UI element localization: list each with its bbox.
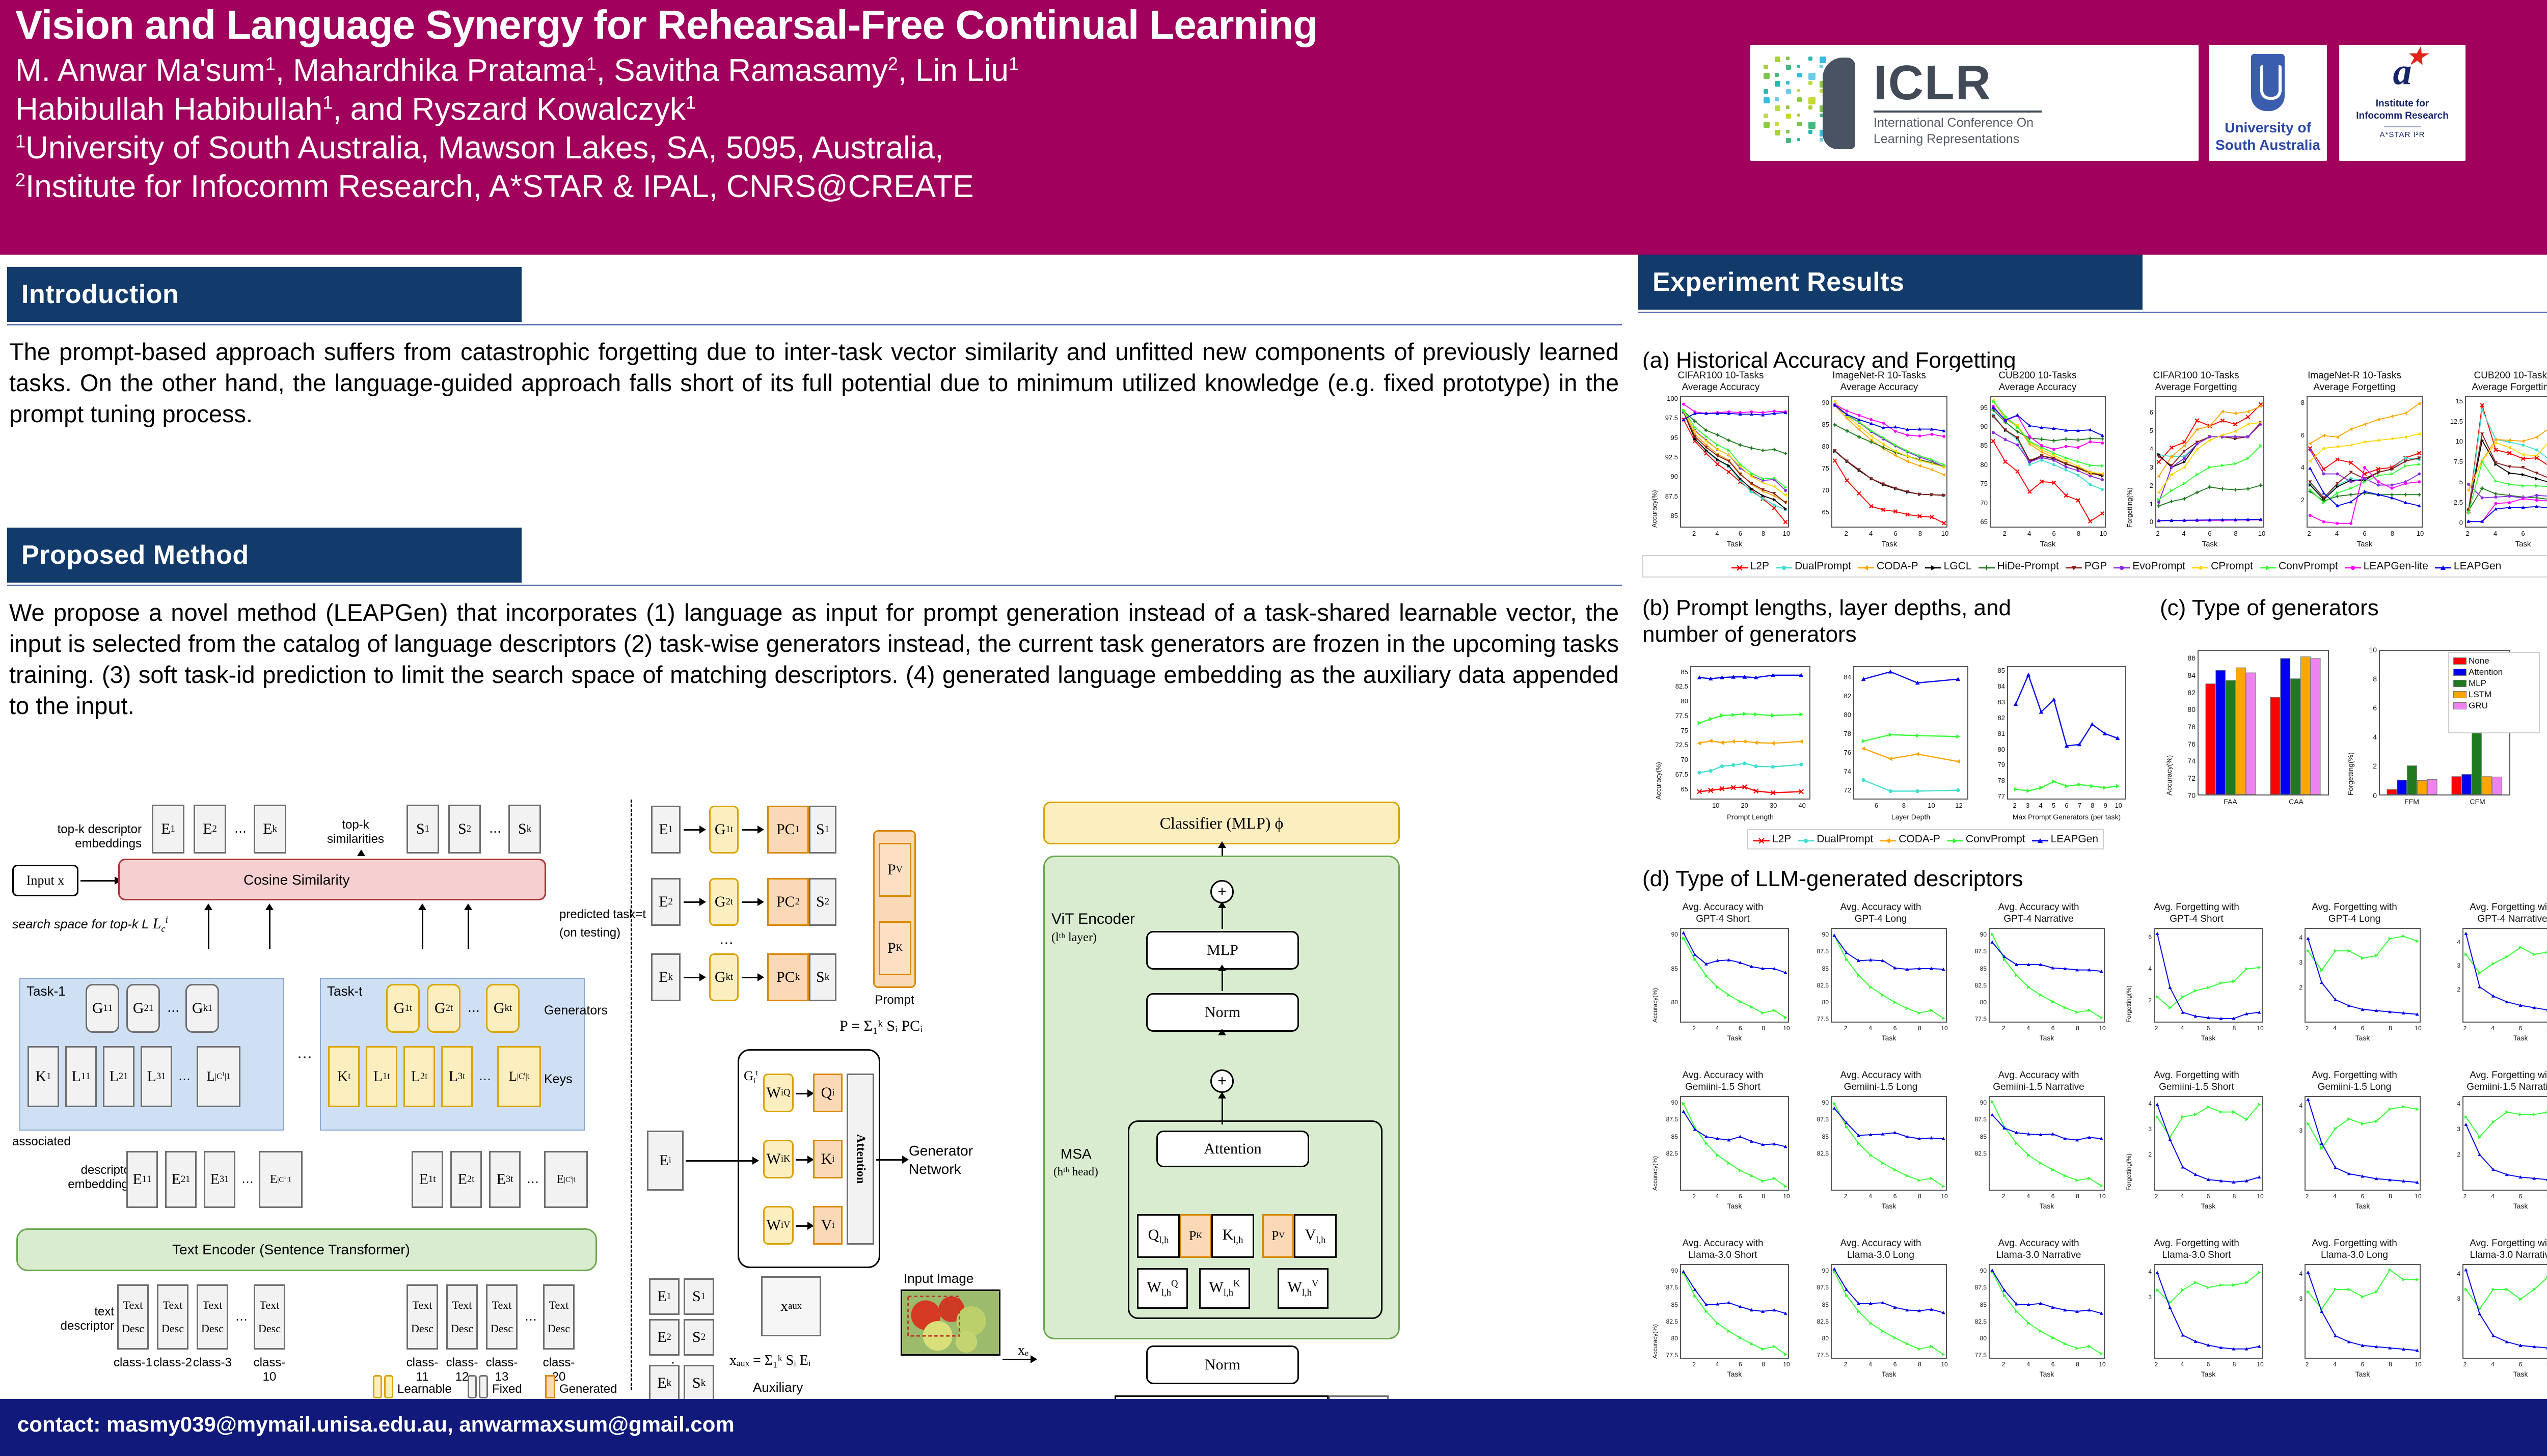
x-axis-label: Task (1973, 1034, 2120, 1042)
WVlh-box: Wl,hV (1278, 1268, 1329, 1309)
x-tick-label: 8 (2068, 1361, 2088, 1368)
y-tick-label: 84 (1825, 673, 1851, 681)
plot-axes (1853, 666, 1968, 800)
legend-fixed-swatch-b (479, 1375, 488, 1398)
plot-title: Avg. Forgetting with Gemiini-1.5 Short (2120, 1069, 2273, 1093)
y-tick-label: 75 (1662, 727, 1688, 734)
gen-Gkt: Gkt (709, 953, 739, 1001)
x-axis-label: Task (2140, 540, 2280, 548)
legend-label: LEAPGen-lite (2364, 560, 2428, 572)
x-axis-label: Task (1665, 540, 1804, 548)
y-axis-label: Forgetting(%) (2126, 487, 2133, 528)
key-box-L11: L11 (65, 1046, 97, 1107)
x-tick-label: 6 (2352, 1025, 2373, 1032)
x-axis-label: Task (2447, 1202, 2547, 1210)
affiliation-1: 1University of South Australia, Mawson L… (15, 131, 943, 165)
y-tick-label: 76 (1825, 749, 1851, 756)
plot-axes (1831, 1264, 1947, 1359)
vit-layer-label: (lᵗʰ layer) (1051, 931, 1097, 945)
legend-marker (1946, 836, 1964, 843)
authors-line-2: Habibullah Habibullah1, and Ryszard Kowa… (15, 93, 696, 126)
x-tick-label: 8 (1753, 530, 1774, 537)
gen-input-E2: E2 (651, 878, 681, 926)
y-tick-label: 3 (2276, 1127, 2302, 1134)
y-tick-label: 3 (2434, 1125, 2460, 1133)
x-axis-label: Task (2138, 1202, 2278, 1210)
plot-d1: Avg. Accuracy with GPT-4 Short8085902468… (1646, 901, 1799, 1064)
plot-axes (2154, 1264, 2263, 1359)
x-tick-label: 4 (2483, 1193, 2503, 1200)
x-tick-label: 8 (2538, 1025, 2547, 1032)
x-tick-label: 20 (1735, 802, 1755, 809)
x-tick-label: 10 (1776, 1193, 1797, 1200)
plot-title: ImageNet-R 10-Tasks Average Forgetting (2278, 370, 2431, 393)
x-tick-label: 8 (1753, 1193, 1774, 1200)
x-tick-label: 10 (2250, 1361, 2270, 1368)
legend-marker (1775, 563, 1793, 570)
y-tick-label: 78 (1825, 730, 1851, 737)
gen-net-input-Ei: Ei (647, 1131, 684, 1191)
input-image-label: Input Image (904, 1271, 973, 1286)
plot-d15: Avg. Accuracy with Llama-3.0 Narrative77… (1962, 1238, 2115, 1400)
x-tick-label: 6 (1730, 1025, 1750, 1032)
x-tick-label: 8 (1753, 1361, 1774, 1368)
x-tick-label: 6 (2198, 1025, 2218, 1032)
y-axis-label: Forgetting(%) (2346, 752, 2354, 795)
plot-title: Avg. Accuracy with Gemiini-1.5 Short (1646, 1069, 1799, 1093)
y-tick-label: 80 (1961, 461, 1988, 469)
y-tick-label: 87.5 (1802, 948, 1829, 955)
x-tick-label: 4 (2019, 530, 2040, 537)
x-axis-label: Task (1974, 540, 2121, 548)
norm-to-mlp-arrow (1222, 971, 1223, 991)
x-tick-label: 10 (1935, 530, 1955, 537)
y-tick-label: 80 (1960, 1335, 1987, 1342)
plot-axes (2462, 1264, 2547, 1359)
legend-generated-swatch (545, 1375, 555, 1398)
aux-S1: S1 (684, 1278, 714, 1315)
y-tick-label: 82.5 (1802, 1150, 1829, 1157)
text-desc-box-5: Text Desc (407, 1284, 438, 1350)
y-tick-label: 4 (2434, 1270, 2460, 1277)
y-tick-label: 81 (1979, 730, 2005, 737)
prompt-comp-PC1: PC1 (767, 806, 809, 854)
y-tick-label: 100 (1651, 395, 1678, 402)
plot-title: Avg. Forgetting with GPT-4 Narrative (2436, 901, 2547, 925)
classifier-mlp-box: Classifier (MLP) ϕ (1043, 802, 1400, 844)
plot-title: CUB200 10-Tasks Average Accuracy (1961, 370, 2114, 393)
y-tick-label: 82.5 (1960, 1150, 1987, 1157)
x-tick-label: 2 (1835, 1193, 1856, 1200)
on-testing-label: (on testing) (559, 926, 620, 940)
x-axis-label: Task (1973, 1370, 2120, 1378)
y-tick-label: 90 (1960, 1267, 1987, 1274)
y-tick-label: 80 (1803, 443, 1829, 450)
desc-emb-E21: E21 (165, 1151, 197, 1208)
x-tick-label: 4 (2325, 1025, 2345, 1032)
legend-item: EvoPrompt (2113, 560, 2185, 572)
keys-label: Keys (544, 1072, 573, 1087)
plot-a2: ImageNet-R 10-Tasks Average Accuracy6570… (1803, 370, 1956, 553)
legend-main: L2P DualPrompt CODA-P LGCL HiDe-Prompt (1642, 555, 2547, 578)
generator-network-label: Generator Network (909, 1142, 973, 1179)
generator-attention-box: Attention (847, 1074, 874, 1245)
x-axis-label: Task (1665, 1202, 1804, 1210)
legend-item: PGP (2065, 560, 2107, 572)
aux-equation: xₐᵤₓ = Σ₁ᵏ Sᵢ Eᵢ (729, 1353, 810, 1369)
y-tick-label: 2 (2434, 986, 2460, 993)
y-tick-label: 90 (1802, 1267, 1829, 1274)
introduction-heading: Introduction (7, 267, 522, 322)
y-tick-label: 72.5 (1662, 741, 1688, 749)
y-tick-label: 76 (2169, 740, 2196, 748)
msa-label: MSA (1061, 1146, 1092, 1162)
key-box-LCt: L|Ct|t (497, 1046, 541, 1107)
text-encoder-label: Text Encoder (Sentence Transformer) (172, 1242, 410, 1258)
generators-label: Generators (544, 1003, 608, 1018)
y-tick-label: 90 (1651, 1267, 1678, 1274)
mlp-box: MLP (1146, 931, 1299, 970)
y-tick-label: 90 (1802, 1099, 1829, 1106)
legend-item: LEAPGen (2434, 560, 2501, 572)
y-tick-label: 5 (2127, 427, 2153, 434)
x-axis-label: Task (1816, 1370, 1962, 1378)
class-label-8: class-20 (537, 1356, 581, 1384)
legend-marker (1797, 836, 1814, 843)
text-desc-box-1: Text Desc (117, 1284, 149, 1350)
plot-d16: Avg. Forgetting with Llama-3.0 Short3424… (2120, 1238, 2273, 1400)
iclr-mosaic-icon (1762, 54, 1868, 151)
x-tick-label: 8 (2380, 1193, 2401, 1200)
y-tick-label: 79 (1979, 761, 2005, 768)
plot-d3: Avg. Accuracy with GPT-4 Narrative77.580… (1962, 901, 2115, 1064)
legend-item: DualPrompt (1775, 560, 1851, 572)
x-axis-label: Layer Depth (1838, 813, 1984, 821)
sim-S1: S1 (809, 806, 836, 854)
plot-axes (2305, 928, 2421, 1023)
y-tick-label: 4 (2276, 1270, 2302, 1277)
y-tick-label: 6 (2125, 933, 2152, 941)
y-tick-label: 86 (2169, 654, 2196, 662)
key-box-K1: K1 (28, 1046, 59, 1107)
y-tick-label: 4 (2278, 463, 2305, 471)
x-tick-label: 2 (1684, 1361, 1704, 1368)
x-tick-label: 6 (1730, 530, 1750, 537)
legend-swatch (2453, 669, 2467, 676)
x-tick-label: 6 (2352, 1193, 2373, 1200)
x-tick-label: 6 (1885, 1025, 1905, 1032)
y-tick-label: 12.5 (2436, 418, 2463, 425)
y-tick-label: 4 (2125, 1100, 2152, 1107)
y-tick-label: 90 (1961, 423, 1988, 430)
legend-marker (2259, 563, 2277, 570)
x-tick-label: 6 (1866, 802, 1887, 809)
attention-to-gennet-arrow (876, 1159, 903, 1161)
legend-item: HiDe-Prompt (1978, 560, 2059, 572)
x-axis-label: Task (2447, 1370, 2547, 1378)
x-tick-label: 6 (2043, 1193, 2063, 1200)
key-box-L3t: L3t (441, 1046, 473, 1107)
plot-axes (2198, 650, 2329, 795)
y-tick-label: 74 (1825, 767, 1851, 775)
y-tick-label: 2 (2276, 984, 2302, 991)
text-desc-ellipsis-t: ⋯ (525, 1313, 537, 1327)
x-tick-label: 4 (1707, 530, 1727, 537)
x-tick-label: 8 (2380, 1361, 2401, 1368)
x-axis-label: Task (2447, 1034, 2547, 1042)
WQlh-box: Wl,hQ (1137, 1268, 1188, 1309)
prompt-stack: PV PK (873, 830, 916, 988)
y-tick-label: 80 (1960, 999, 1987, 1006)
plot-title: Avg. Forgetting with GPT-4 Short (2120, 901, 2273, 925)
legend-swatch (2453, 657, 2467, 665)
y-tick-label: 65 (1662, 785, 1688, 793)
y-tick-label: 8 (2350, 675, 2377, 683)
x-tick-label: 6 (2510, 1361, 2531, 1368)
y-tick-label: 4 (2125, 1268, 2152, 1275)
x-tick-label: 6 (1885, 1361, 1905, 1368)
x-tick-label: 10 (1934, 1361, 1955, 1368)
legend-label: CODA-P (1899, 833, 1940, 845)
sim-ellipsis: ⋯ (489, 825, 501, 839)
x-tick-label: 6 (2510, 1025, 2531, 1032)
y-tick-label: 85 (1961, 442, 1988, 449)
prompt-equation: P = Σ₁ᵏ Sᵢ PCᵢ (839, 1018, 923, 1035)
x-tick-label: 4 (1860, 1025, 1881, 1032)
plot-d9: Avg. Accuracy with Gemiini-1.5 Narrative… (1962, 1069, 2115, 1232)
legend-item: Attention (2453, 667, 2503, 677)
x-tick-label: 2 (1993, 1025, 2014, 1032)
plot-title: Avg. Forgetting with GPT-4 Long (2278, 901, 2431, 925)
authors-line-1: M. Anwar Ma'sum1, Mahardhika Pratama1, S… (15, 54, 1019, 88)
search-space-label: search space for top-k L Lci (12, 915, 168, 935)
prompt-PK: PK (879, 921, 911, 975)
y-axis-label: Accuracy(%) (1655, 762, 1662, 800)
plot-axes (1990, 396, 2106, 528)
x-tick-label: 8 (2068, 1193, 2088, 1200)
y-axis-label: Accuracy(%) (1651, 988, 1659, 1023)
WK-to-Ki-arrow (796, 1159, 808, 1161)
plot-title: Avg. Accuracy with Llama-3.0 Long (1804, 1238, 1957, 1261)
legend-label: CODA-P (1877, 560, 1918, 572)
y-tick-label: 70 (1961, 499, 1988, 507)
text-desc-ellipsis-1: ⋯ (235, 1313, 248, 1327)
x-aux-box: xaux (761, 1276, 821, 1336)
y-tick-label: 6 (2127, 408, 2153, 416)
text-desc-box-2: Text Desc (157, 1284, 188, 1350)
y-tick-label: 82 (1825, 692, 1851, 700)
iclr-subtitle-2: Learning Representations (1874, 131, 2042, 147)
y-tick-label: 97.5 (1651, 414, 1678, 422)
y-tick-label: 80 (1662, 697, 1688, 705)
y-tick-label: 84 (1979, 682, 2005, 690)
desc-emb-EC1: E|C1|1 (259, 1151, 303, 1208)
prompt-label: Prompt (871, 993, 918, 1007)
desc-emb-ellipsis-1: ⋯ (241, 1175, 254, 1190)
legend-item: GRU (2453, 701, 2488, 711)
x-tick-label: 4 (2172, 1025, 2192, 1032)
plot-title: CIFAR100 10-Tasks Average Accuracy (1644, 370, 1797, 393)
descriptor-embeddings-label: descriptor embeddings (12, 1163, 134, 1191)
y-tick-label: 83 (1979, 698, 2005, 706)
legend-item: DualPrompt (1797, 833, 1873, 845)
gen-box-Gk1: Gk1 (185, 984, 219, 1033)
legend-item: LEAPGen-lite (2344, 560, 2428, 572)
x-tick-label: 4 (2485, 530, 2506, 537)
x-axis-label: Task (1816, 1034, 1962, 1042)
x-tick-label: 10 (1776, 1025, 1797, 1032)
plot-a1: CIFAR100 10-Tasks Average Accuracy8587.5… (1644, 370, 1797, 553)
y-tick-label: 85 (1960, 1133, 1987, 1140)
x-tick-label: FAA (2198, 798, 2263, 806)
x-tick-label: 10 (1921, 802, 1942, 809)
x-axis-label: Task (1816, 1202, 1962, 1210)
y-tick-label: 95 (1961, 404, 1988, 411)
x-tick-label: 10 (1776, 1361, 1797, 1368)
plot-d7: Avg. Accuracy with Gemiini-1.5 Short82.5… (1646, 1069, 1799, 1232)
y-axis-label: Forgetting(%) (2125, 985, 2132, 1023)
sim-box-S2: S2 (448, 805, 481, 854)
legend-marker (1753, 836, 1770, 843)
legend-learnable-swatch-b (384, 1375, 393, 1398)
plot-d6: Avg. Forgetting with GPT-4 Narrative2342… (2436, 901, 2547, 1064)
norm-box-1: Norm (1146, 993, 1299, 1032)
poster-header: Vision and Language Synergy for Rehearsa… (0, 0, 2547, 255)
norm-box-2: Norm (1146, 1345, 1299, 1384)
G2t-to-PC2-arrow (742, 901, 758, 903)
y-tick-label: 85 (1651, 1301, 1678, 1308)
y-tick-label: 87.5 (1651, 1116, 1678, 1123)
text-desc-box-3: Text Desc (197, 1284, 228, 1350)
x-tick-label: 10 (2250, 1025, 2270, 1032)
legend-marker (2191, 563, 2209, 570)
x-tick-label: 6 (2043, 1025, 2063, 1032)
x-tick-label: 2 (2146, 1361, 2166, 1368)
emb-box-E1: E1 (152, 805, 184, 854)
y-tick-label: 80 (1802, 999, 1829, 1006)
y-tick-label: 82.5 (1802, 1318, 1829, 1325)
legend-item: ConvPrompt (2259, 560, 2338, 572)
x-axis-label: Prompt Length (1675, 813, 1826, 821)
plot-axes (2155, 396, 2264, 528)
plot-b2: 72747678808284681012Layer Depth (1822, 662, 1974, 830)
plot-axes (1680, 928, 1789, 1023)
x-tick-label: 2 (1684, 530, 1704, 537)
Gt-i-label: Git (744, 1068, 758, 1086)
plot-axes (2305, 1264, 2421, 1359)
x-tick-label: 6 (2200, 530, 2220, 537)
x-axis-label: Task (1665, 1034, 1804, 1042)
poster-footer: contact: masmy039@mymail.unisa.edu.au, a… (0, 1399, 2547, 1456)
x-tick-label: CAA (2263, 798, 2329, 806)
legend-marker (2113, 563, 2130, 570)
x-tick-label: 2 (1836, 530, 1856, 537)
y-tick-label: 82 (2169, 689, 2196, 697)
x-tick-label: 6 (2198, 1193, 2218, 1200)
desc-emb-E1t: E1t (412, 1151, 443, 1208)
y-tick-label: 3 (2276, 959, 2302, 966)
y-tick-label: 3 (2125, 1294, 2152, 1301)
x-tick-label: 4 (1707, 1025, 1727, 1032)
y-tick-label: 2.5 (2436, 499, 2463, 506)
y-tick-label: 85 (1651, 1133, 1678, 1140)
x-tick-label: 8 (2069, 530, 2089, 537)
plot-a3: CUB200 10-Tasks Average Accuracy65707580… (1961, 370, 2114, 553)
aux-Ek: Ek (649, 1365, 680, 1402)
attn-to-add-arrow (1222, 1098, 1223, 1124)
plot-axes (1831, 928, 1947, 1023)
x-tick-label: 8 (1910, 530, 1931, 537)
x-tick-label: 4 (2018, 1193, 2039, 1200)
text-desc-box-6: Text Desc (446, 1284, 478, 1350)
y-tick-label: 3 (2125, 1125, 2152, 1133)
key-box-L21: L21 (103, 1046, 134, 1107)
x-tick-label: 6 (2510, 1193, 2531, 1200)
input-to-cosine-arrow (80, 880, 115, 882)
x-tick-label: 10 (2092, 1193, 2112, 1200)
x-tick-label: 10 (1705, 802, 1726, 809)
Qlh-box: Ql,h (1137, 1214, 1180, 1258)
y-tick-label: 90 (1803, 399, 1829, 406)
x-tick-label: 8 (1910, 1361, 1930, 1368)
legend-label: CPrompt (2211, 560, 2253, 572)
WV-to-Vi-arrow (796, 1225, 808, 1227)
x-tick-label: 4 (1860, 1193, 1881, 1200)
plot-axes (2462, 928, 2547, 1023)
E1-to-G1t-arrow (684, 829, 700, 831)
x-tick-label: 6 (2043, 1361, 2063, 1368)
y-tick-label: 85 (1802, 965, 1829, 972)
x-tick-label: 10 (2408, 1025, 2428, 1032)
legend-label: MLP (2469, 678, 2486, 689)
x-axis-label: Task (2138, 1370, 2278, 1378)
y-tick-label: 4 (2276, 934, 2302, 941)
plot-d4: Avg. Forgetting with GPT-4 Short24624681… (2120, 901, 2273, 1064)
desc-emb-E2t: E2t (450, 1151, 482, 1208)
x-tick-label: 2 (2455, 1025, 2475, 1032)
y-tick-label: 3 (2434, 962, 2460, 969)
gen-box-G21: G21 (126, 984, 160, 1033)
x-tick-label: 2 (1994, 530, 2015, 537)
legend-label: L2P (1772, 833, 1791, 845)
y-tick-label: 87.5 (1960, 948, 1987, 955)
x-tick-label: 4 (2483, 1361, 2503, 1368)
gen-G1t: G1t (709, 806, 739, 854)
y-tick-label: 92.5 (1651, 453, 1678, 461)
legend-item: CPrompt (2191, 560, 2253, 572)
y-tick-label: 2 (2434, 1151, 2460, 1158)
legend-label: LSTM (2469, 690, 2491, 700)
input-image-thumb (901, 1289, 1000, 1356)
emb-box-Ek: Ek (254, 805, 286, 854)
plot-axes (1831, 396, 1947, 528)
y-axis-label: Accuracy(%) (2165, 755, 2173, 795)
y-tick-label: 82 (1979, 714, 2005, 722)
desc-emb-ellipsis-t: ⋯ (527, 1175, 539, 1190)
auxiliary-label: Auxiliary (753, 1380, 803, 1395)
plot-title: Avg. Accuracy with GPT-4 Narrative (1962, 901, 2115, 925)
x-tick-label: 8 (2224, 1193, 2244, 1200)
legend-label: GRU (2469, 701, 2488, 711)
y-tick-label: 87.5 (1960, 1284, 1987, 1291)
value-Vi: Vi (813, 1206, 843, 1245)
class-label-6: class-12 (440, 1356, 484, 1384)
key-ellipsis-1: ⋯ (178, 1073, 191, 1087)
plot-d10: Avg. Forgetting with Gemiini-1.5 Short23… (2120, 1069, 2273, 1232)
plot-axes (1989, 1264, 2105, 1359)
y-tick-label: 4 (2434, 939, 2460, 946)
y-tick-label: 80 (2169, 705, 2196, 713)
